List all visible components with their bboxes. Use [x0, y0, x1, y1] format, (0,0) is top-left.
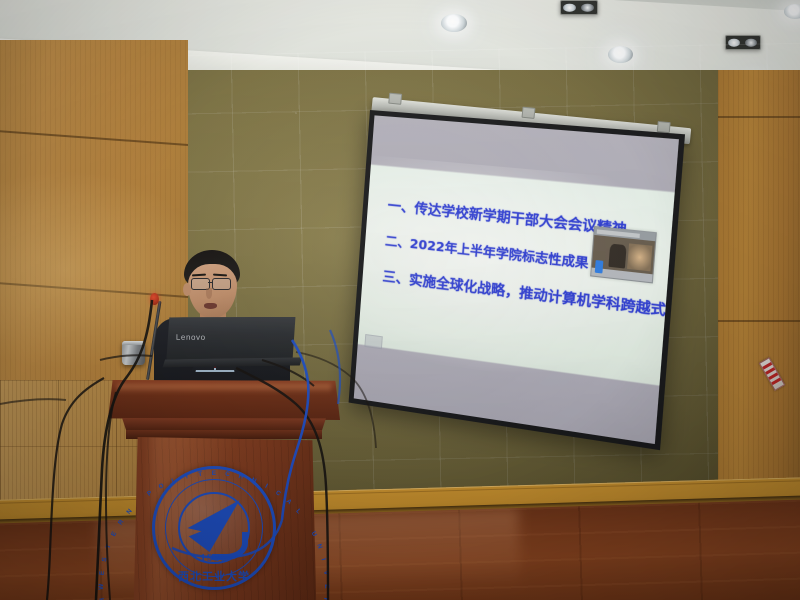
- face: [188, 264, 237, 318]
- conference-hall-photo: 一、传达学校新学期干部大会会议精神 二、2022年上半年学院标志性成果 三、实施…: [0, 0, 800, 600]
- meeting-video-window: [590, 226, 657, 283]
- screen-frame: 一、传达学校新学期干部大会会议精神 二、2022年上半年学院标志性成果 三、实施…: [349, 110, 685, 450]
- roller-bracket: [388, 93, 402, 105]
- downlight-icon: [441, 14, 467, 32]
- university-emblem: NORTHWESTERN POLYTECHNICAL UNIVERSITY 19…: [152, 466, 276, 590]
- wood-seam: [718, 320, 800, 322]
- wood-grain-texture: [718, 70, 800, 540]
- right-wood-wall: [718, 70, 800, 540]
- nose: [206, 288, 212, 299]
- mouth: [204, 303, 217, 309]
- laptop[interactable]: Lenovo: [165, 315, 296, 372]
- drinking-cup: [122, 341, 145, 365]
- laptop-brand-label: Lenovo: [176, 333, 206, 342]
- podium: NORTHWESTERN POLYTECHNICAL UNIVERSITY 19…: [108, 380, 340, 600]
- podium-top-surface: [108, 380, 340, 420]
- screen-surface: 一、传达学校新学期干部大会会议精神 二、2022年上半年学院标志性成果 三、实施…: [354, 115, 679, 444]
- emblem-chinese-name: 西北工业大学: [152, 568, 276, 584]
- ear: [183, 283, 191, 296]
- emblem-year: 1938: [152, 552, 276, 564]
- eyeglasses-lens-right: [212, 278, 231, 290]
- roller-bracket: [521, 107, 535, 119]
- slide-corner-marker: [365, 334, 383, 349]
- downlight-icon: [784, 4, 800, 19]
- spot-fixture-icon: [560, 0, 598, 15]
- microphone-head-icon: [150, 293, 159, 305]
- wood-seam: [718, 116, 800, 118]
- eyeglasses-bridge: [208, 282, 213, 283]
- projection-screen: 一、传达学校新学期干部大会会议精神 二、2022年上半年学院标志性成果 三、实施…: [348, 110, 685, 456]
